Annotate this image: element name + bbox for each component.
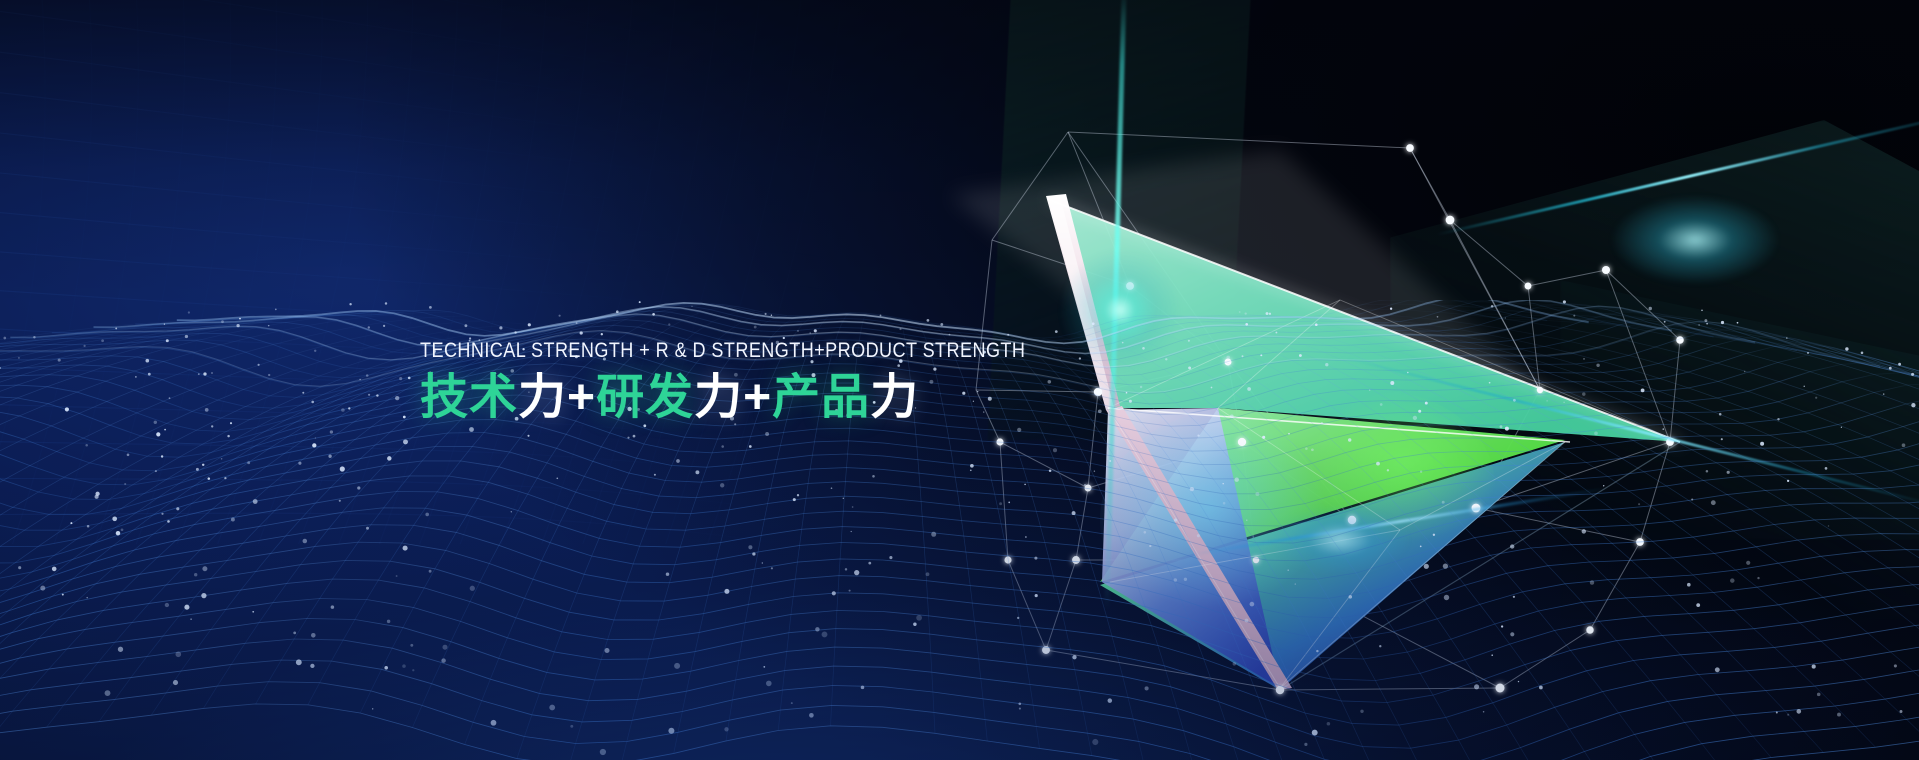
headline-segment-6: 产品 [772, 371, 870, 424]
network-node [1602, 266, 1610, 274]
network-node [1446, 216, 1455, 225]
headline-text: 技术力+研发力+产品力 [420, 372, 1180, 424]
light-streak-upper-right-flare [1610, 195, 1780, 285]
headline-segment-3: 研发 [596, 371, 694, 424]
headline-segment-1: 力 [518, 371, 567, 424]
headline-segment-7: 力 [870, 371, 919, 424]
headline-segment-0: 技术 [420, 371, 518, 424]
headline-segment-5: + [743, 371, 772, 424]
headline-segment-4: 力 [694, 371, 743, 424]
headline-segment-2: + [567, 371, 596, 424]
headline-block: TECHNICAL STRENGTH + R & D STRENGTH+PROD… [420, 340, 1180, 424]
network-node [1406, 144, 1414, 152]
hero-banner: TECHNICAL STRENGTH + R & D STRENGTH+PROD… [0, 0, 1919, 760]
network-node [1525, 283, 1532, 290]
eyebrow-text: TECHNICAL STRENGTH + R & D STRENGTH+PROD… [420, 340, 1074, 361]
